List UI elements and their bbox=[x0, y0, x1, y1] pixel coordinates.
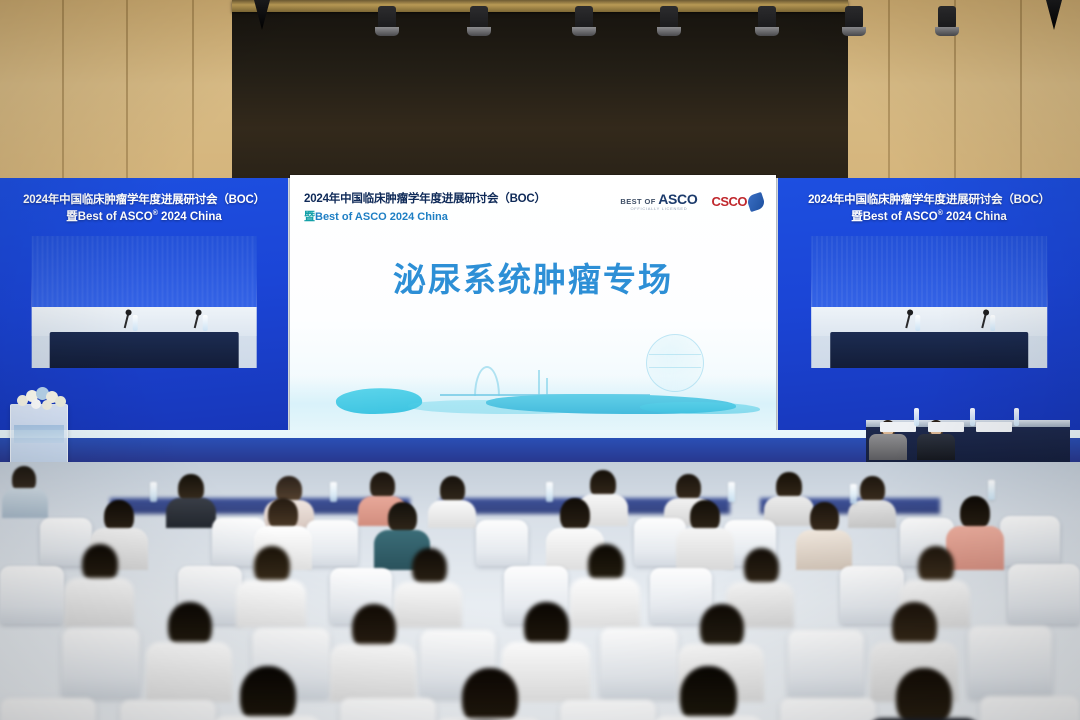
chair bbox=[1000, 516, 1060, 566]
chair bbox=[788, 630, 864, 698]
attendee-head bbox=[960, 496, 990, 530]
bottle-icon bbox=[546, 482, 553, 502]
chair bbox=[780, 698, 876, 720]
center-header-line1: 2024年中国临床肿瘤学年度进展研讨会（BOC） bbox=[304, 191, 546, 209]
logo-row: BEST OF ASCO OFFICIALLY LICENSED CSCO bbox=[620, 192, 764, 211]
chair bbox=[980, 696, 1080, 720]
bottle-icon bbox=[988, 480, 995, 500]
bottle-icon bbox=[150, 482, 157, 502]
chair bbox=[62, 628, 140, 698]
attendee-body bbox=[946, 526, 1004, 570]
attendee-body bbox=[796, 530, 852, 570]
chair bbox=[306, 520, 358, 566]
audience-area bbox=[0, 462, 1080, 720]
nameplate-icon bbox=[976, 422, 1012, 432]
chair bbox=[968, 626, 1052, 698]
attendee-head bbox=[560, 498, 590, 532]
attendee-body bbox=[570, 578, 640, 628]
flower-icon bbox=[31, 399, 41, 409]
chair bbox=[1008, 564, 1080, 624]
session-title: 泌尿系统肿瘤专场 bbox=[290, 253, 776, 301]
attendee-body bbox=[2, 488, 48, 518]
bottle-icon bbox=[202, 315, 207, 331]
attendee-body bbox=[64, 578, 134, 628]
side-screen-right: 2024年中国临床肿瘤学年度进展研讨会（BOC） 暨Best of ASCO® … bbox=[778, 178, 1080, 438]
stage-light-icon bbox=[470, 6, 488, 32]
chair bbox=[476, 520, 528, 566]
bottle-icon bbox=[970, 408, 975, 426]
attendee-body bbox=[166, 498, 216, 528]
chair bbox=[120, 700, 216, 720]
bottle-icon bbox=[1014, 408, 1019, 426]
video-feed-right bbox=[811, 236, 1047, 368]
chair bbox=[560, 700, 656, 720]
banner-left-line2: 暨Best of ASCO® 2024 China bbox=[0, 209, 288, 226]
stage-light-icon bbox=[575, 6, 593, 32]
bottle-icon bbox=[330, 482, 337, 502]
stage-light-icon bbox=[378, 6, 396, 32]
bottle-icon bbox=[990, 315, 995, 331]
attendee-body bbox=[652, 716, 764, 720]
banner-right-text: 2024年中国临床肿瘤学年度进展研讨会（BOC） 暨Best of ASCO® … bbox=[778, 192, 1080, 225]
conference-hall-photo: 2024年中国临床肿瘤学年度进展研讨会（BOC） 暨Best of ASCO® … bbox=[0, 0, 1080, 720]
nameplate-icon bbox=[880, 422, 916, 432]
center-screen-header: 2024年中国临床肿瘤学年度进展研讨会（BOC） 暨Best of ASCO 2… bbox=[304, 191, 546, 226]
banner-left-line1: 2024年中国临床肿瘤学年度进展研讨会（BOC） bbox=[0, 192, 288, 209]
stage-light-icon bbox=[660, 6, 678, 32]
chair bbox=[340, 698, 436, 720]
bottle-icon bbox=[915, 315, 920, 331]
video-feed-left bbox=[32, 236, 257, 368]
attendee-body bbox=[394, 582, 462, 628]
banner-right-line2: 暨Best of ASCO® 2024 China bbox=[778, 209, 1080, 226]
attendee-body bbox=[236, 580, 306, 628]
flower-icon bbox=[42, 400, 52, 410]
attendee-body bbox=[848, 500, 896, 528]
csco-logo-text: CSCO bbox=[711, 194, 747, 209]
center-presentation-screen: 2024年中国临床肿瘤学年度进展研讨会（BOC） 暨Best of ASCO 2… bbox=[290, 175, 776, 438]
banner-left-text: 2024年中国临床肿瘤学年度进展研讨会（BOC） 暨Best of ASCO® … bbox=[0, 192, 288, 225]
nameplate-icon bbox=[928, 422, 964, 432]
asco-logo-small: BEST OF bbox=[620, 197, 658, 206]
stage-light-icon bbox=[938, 6, 956, 32]
attendee-body bbox=[330, 644, 416, 702]
attendee-body bbox=[146, 642, 232, 702]
asco-logo-sub: OFFICIALLY LICENSED bbox=[620, 207, 697, 211]
flower-icon bbox=[55, 396, 66, 407]
chair bbox=[600, 628, 678, 698]
attendee-head bbox=[240, 666, 296, 720]
attendee-head bbox=[462, 668, 518, 720]
csco-logo: CSCO bbox=[711, 194, 764, 210]
csco-swoosh-icon bbox=[748, 194, 764, 210]
banner-right-line1: 2024年中国临床肿瘤学年度进展研讨会（BOC） bbox=[778, 192, 1080, 209]
chair bbox=[0, 698, 96, 720]
stage-light-icon bbox=[845, 6, 863, 32]
attendee-body bbox=[676, 528, 734, 570]
sphere-icon bbox=[646, 334, 704, 392]
bottle-icon bbox=[728, 482, 735, 502]
best-of-asco-logo: BEST OF ASCO OFFICIALLY LICENSED bbox=[620, 192, 697, 211]
bottle-icon bbox=[850, 484, 857, 504]
asco-logo-large: ASCO bbox=[658, 191, 697, 207]
attendee-body bbox=[212, 716, 322, 720]
flower-arrangement bbox=[15, 385, 69, 415]
center-header-line2: 暨Best of ASCO 2024 China bbox=[304, 209, 546, 226]
chair bbox=[0, 566, 64, 624]
attendee-head bbox=[680, 666, 737, 720]
bottle-icon bbox=[133, 315, 138, 331]
attendee-head bbox=[896, 668, 952, 720]
skyline-graphic bbox=[290, 328, 776, 438]
attendee-body bbox=[428, 500, 476, 528]
bottle-icon bbox=[914, 408, 919, 426]
stage-light-icon bbox=[758, 6, 776, 32]
lighting-truss bbox=[232, 0, 848, 12]
